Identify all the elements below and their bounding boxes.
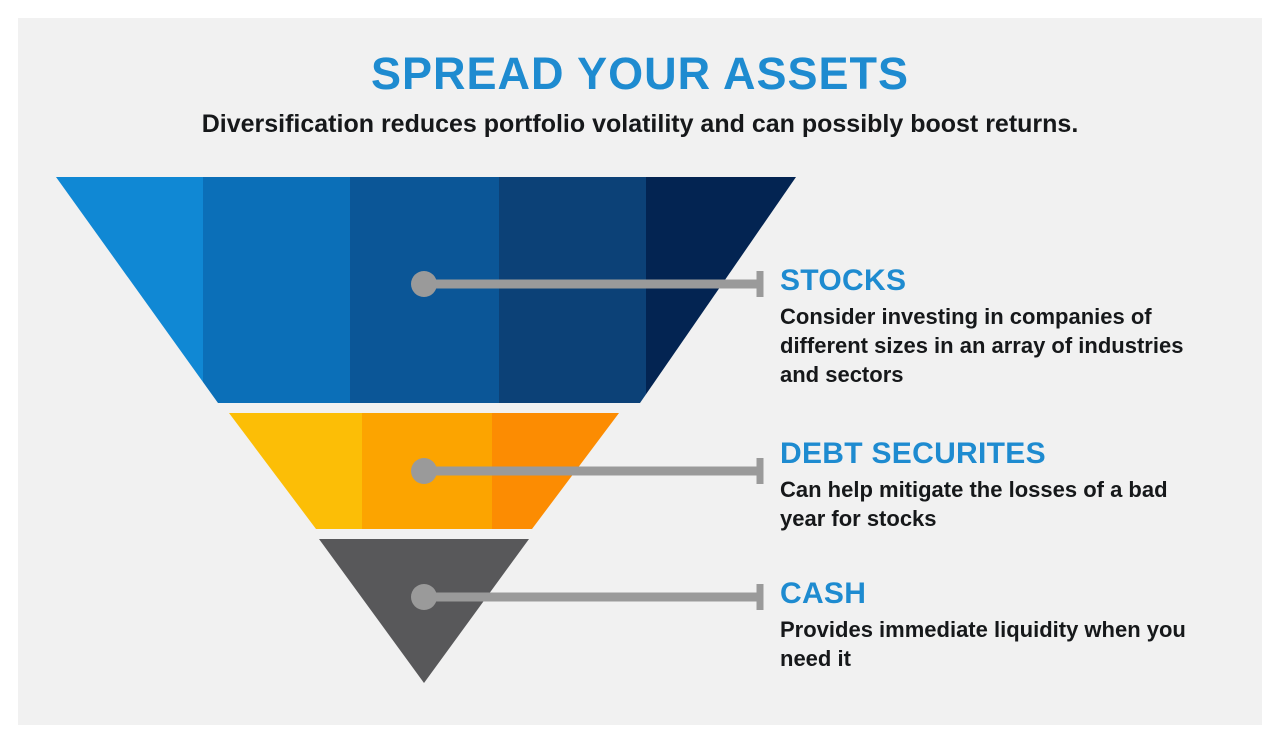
callout-stocks: STOCKS Consider investing in companies o… (780, 266, 1250, 389)
callout-title-debt-securites: DEBT SECURITES (780, 439, 1250, 469)
callout-debt-securites: DEBT SECURITES Can help mitigate the los… (780, 439, 1250, 533)
callout-title-stocks: STOCKS (780, 266, 1250, 296)
funnel-band-stocks-5 (646, 177, 798, 403)
funnel-band-cash-1 (319, 539, 529, 683)
page-title: SPREAD YOUR ASSETS (18, 50, 1262, 97)
funnel-tier-debt (229, 413, 621, 529)
funnel-band-stocks-3 (350, 177, 499, 403)
funnel-band-debt-2 (362, 413, 492, 529)
funnel-band-debt-3 (492, 413, 621, 529)
connector-dot-cash (411, 584, 437, 610)
connector-dot-stocks (411, 271, 437, 297)
callout-cash: CASH Provides immediate liquidity when y… (780, 579, 1250, 673)
connector-cash (411, 584, 760, 610)
funnel-tier-stocks (56, 177, 798, 403)
funnel-band-debt-1 (229, 413, 362, 529)
connector-debt (411, 458, 760, 484)
page-subtitle: Diversification reduces portfolio volati… (18, 110, 1262, 139)
callout-title-cash: CASH (780, 579, 1250, 609)
funnel-tier-cash (319, 539, 529, 683)
funnel-band-stocks-4 (499, 177, 646, 403)
infographic-panel: SPREAD YOUR ASSETS Diversification reduc… (18, 18, 1262, 725)
callout-body-stocks: Consider investing in companies of diffe… (780, 302, 1200, 389)
funnel-band-stocks-2 (203, 177, 350, 403)
connector-dot-debt (411, 458, 437, 484)
funnel-band-stocks-1 (56, 177, 203, 403)
connector-stocks (411, 271, 760, 297)
callout-body-debt-securites: Can help mitigate the losses of a bad ye… (780, 475, 1200, 533)
callout-body-cash: Provides immediate liquidity when you ne… (780, 615, 1200, 673)
